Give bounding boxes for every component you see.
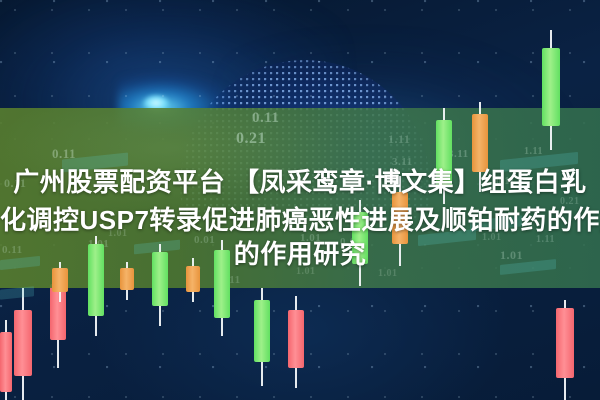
ticker-number: 1.11 xyxy=(388,132,410,147)
ticker-number: 1.11 xyxy=(524,146,543,157)
title-text-3: 的作用研究 xyxy=(234,239,367,269)
title-text-1: 广州股票配资平台 【凤采鸾章·博文集】组蛋白乳 xyxy=(13,167,586,197)
banner-image: 0.110.110.213.111.110.111.113.110.111.01… xyxy=(0,0,600,400)
page-title-line-2: 化调控USP7转录促进肺癌恶性进展及顺铂耐药的作用研 xyxy=(0,202,600,238)
ticker-number-layer: 0.110.110.213.111.110.111.113.110.111.01… xyxy=(0,0,600,400)
page-title-line-1: 广州股票配资平台 【凤采鸾章·博文集】组蛋白乳 xyxy=(0,164,600,200)
ticker-number: 0.11 xyxy=(52,146,76,162)
ticker-number: 0.21 xyxy=(236,130,266,148)
ticker-number: 0.11 xyxy=(252,110,279,127)
candlestick-body xyxy=(542,48,560,126)
page-title-line-3: 的作用研究 xyxy=(0,236,600,272)
title-text-2: 化调控USP7转录促进肺癌恶性进展及顺铂耐药的作用研 xyxy=(0,205,600,235)
candlestick xyxy=(542,30,560,150)
